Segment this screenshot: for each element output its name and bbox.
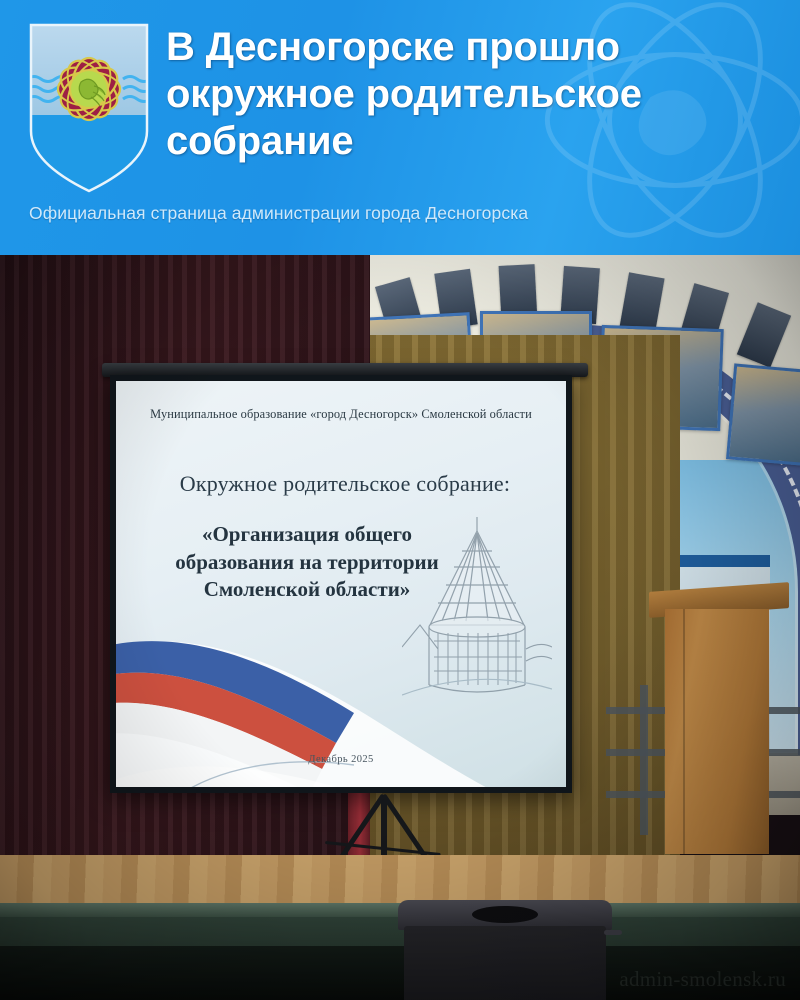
- projection-screen-frame: Муниципальное образование «город Десного…: [110, 375, 572, 793]
- header-banner: В Десногорске прошло окружное родительск…: [0, 0, 800, 255]
- mural-film-strip: [619, 272, 664, 333]
- article-photo: Муниципальное образование «город Десного…: [0, 255, 800, 1000]
- presentation-slide: Муниципальное образование «город Десного…: [116, 381, 566, 787]
- projection-screen: Муниципальное образование «город Десного…: [110, 373, 572, 793]
- lectern: [665, 587, 773, 882]
- speaker-side-handle: [604, 930, 622, 935]
- slide-kicker: Окружное родительское собрание:: [116, 471, 566, 497]
- mural-photo: [726, 363, 800, 466]
- speaker-body: [404, 926, 606, 1000]
- railing-post: [640, 685, 648, 835]
- page-title: В Десногорске прошло окружное родительск…: [166, 24, 788, 164]
- coat-of-arms-icon: [25, 23, 153, 193]
- stage-monitor-speaker: [398, 900, 612, 1000]
- post-card: В Десногорске прошло окружное родительск…: [0, 0, 800, 1000]
- banner-subtitle: Официальная страница администрации город…: [29, 203, 769, 224]
- photo-watermark: admin-smolensk.ru: [619, 967, 786, 992]
- speaker-handle-cutout: [472, 906, 538, 923]
- lectern-body: [665, 609, 769, 854]
- slide-organization: Муниципальное образование «город Десного…: [116, 407, 566, 422]
- mural-film-strip: [737, 302, 791, 367]
- slide-title: «Организация общего образования на терри…: [142, 521, 472, 604]
- slide-date: Декабрь 2025: [116, 754, 566, 765]
